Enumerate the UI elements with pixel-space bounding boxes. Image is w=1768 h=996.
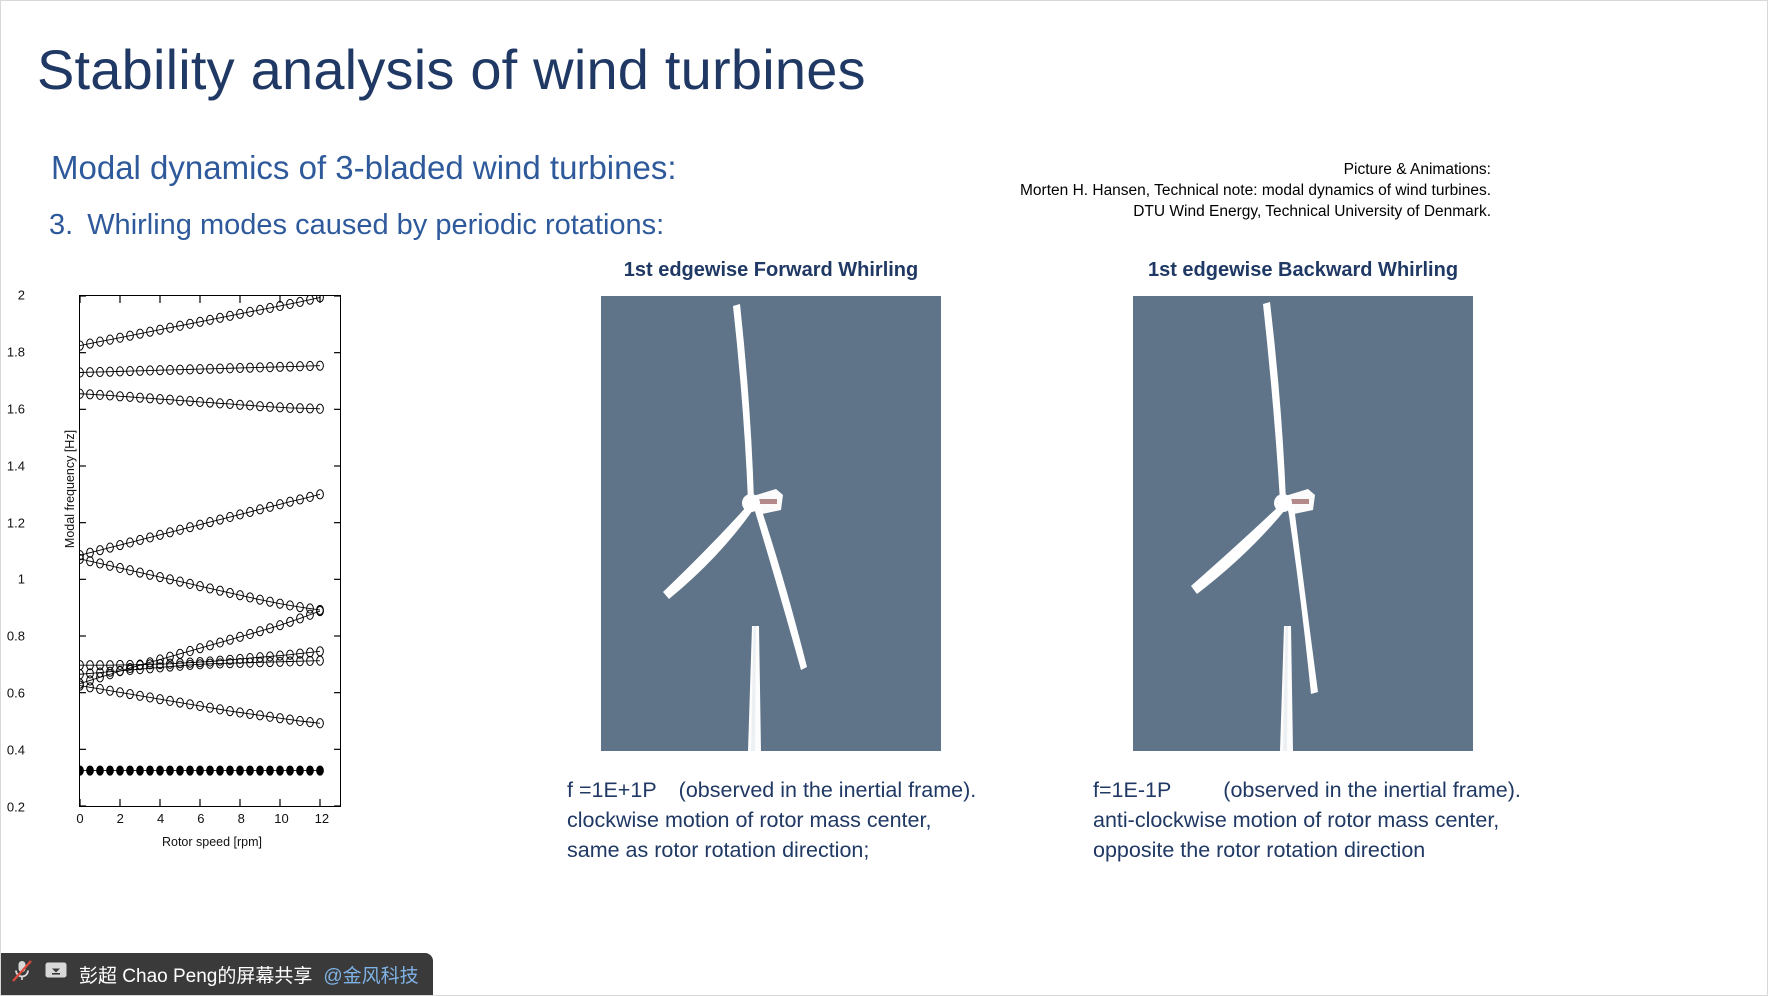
caption-line-3: opposite the rotor rotation direction <box>1093 835 1513 865</box>
chart-plot-area: 024681012 <box>79 295 341 807</box>
screen-share-icon[interactable] <box>44 961 68 987</box>
chart-x-axis-label: Rotor speed [rpm] <box>77 835 347 849</box>
screen-share-org: @金风科技 <box>323 961 418 988</box>
chart-y-tick: 0.4 <box>7 743 25 758</box>
chart-x-tick: 2 <box>117 811 124 826</box>
chart-y-tick: 0.6 <box>7 686 25 701</box>
wind-turbine-illustration <box>601 296 941 751</box>
citation-line-3: DTU Wind Energy, Technical University of… <box>891 201 1491 222</box>
chart-x-tick: 6 <box>197 811 204 826</box>
caption-line-2: clockwise motion of rotor mass center, <box>567 805 981 835</box>
animation-panel-backward-whirling: 1st edgewise Backward Whirling f=1E-1P(o… <box>1093 259 1513 865</box>
screen-share-taskbar[interactable]: 彭超 Chao Peng的屏幕共享 @金风科技 <box>1 953 433 995</box>
bullet-number: 3. <box>49 209 73 241</box>
citation-line-2: Morten H. Hansen, Technical note: modal … <box>891 180 1491 201</box>
animation-heading-backward: 1st edgewise Backward Whirling <box>1093 259 1513 282</box>
animation-heading-forward: 1st edgewise Forward Whirling <box>561 259 981 282</box>
caption-line-1: f=1E-1P(observed in the inertial frame). <box>1093 775 1513 805</box>
chart-y-axis-label: Modal frequency [Hz] <box>63 404 77 574</box>
citation-block: Picture & Animations: Morten H. Hansen, … <box>891 159 1491 222</box>
chart-x-tick: 8 <box>238 811 245 826</box>
chart-y-tick: 1.2 <box>7 515 25 530</box>
chart-y-tick: 1.6 <box>7 401 25 416</box>
turbine-animation-forward[interactable] <box>601 296 941 751</box>
chart-y-tick: 1.8 <box>7 344 25 359</box>
citation-line-1: Picture & Animations: <box>891 159 1491 180</box>
chart-y-tick: 1 <box>18 572 25 587</box>
animation-caption-forward: f =1E+1P(observed in the inertial frame)… <box>567 775 981 865</box>
caption-line-3: same as rotor rotation direction; <box>567 835 981 865</box>
caption-frame-note: (observed in the inertial frame). <box>1223 778 1521 802</box>
bullet-text: Whirling modes caused by periodic rotati… <box>87 209 664 241</box>
turbine-animation-backward[interactable] <box>1133 296 1473 751</box>
chart-x-tick: 4 <box>157 811 164 826</box>
chart-y-tick: 2 <box>18 288 25 303</box>
chart-x-tick: 12 <box>315 811 329 826</box>
chart-y-tick: 0.8 <box>7 629 25 644</box>
slide-bullet: 3.Whirling modes caused by periodic rota… <box>49 209 664 242</box>
caption-frame-note: (observed in the inertial frame). <box>679 778 977 802</box>
wind-turbine-illustration <box>1133 296 1473 751</box>
chart-x-tick: 0 <box>76 811 83 826</box>
modal-frequency-chart: Modal frequency [Hz] Rotor speed [rpm] 0… <box>31 287 361 857</box>
chart-curves <box>80 296 340 806</box>
chart-y-tick: 0.2 <box>7 800 25 815</box>
page-title: Stability analysis of wind turbines <box>37 37 866 102</box>
caption-line-1: f =1E+1P(observed in the inertial frame)… <box>567 775 981 805</box>
animation-panel-forward-whirling: 1st edgewise Forward Whirling f =1E+1P(o… <box>561 259 981 865</box>
screen-share-label: 彭超 Chao Peng的屏幕共享 <box>79 961 312 988</box>
slide-subtitle: Modal dynamics of 3-bladed wind turbines… <box>51 149 677 187</box>
chart-y-tick: 1.4 <box>7 458 25 473</box>
caption-formula: f=1E-1P <box>1093 778 1171 802</box>
caption-formula: f =1E+1P <box>567 778 657 802</box>
animation-caption-backward: f=1E-1P(observed in the inertial frame).… <box>1093 775 1513 865</box>
chart-x-tick: 10 <box>274 811 288 826</box>
microphone-muted-icon[interactable] <box>11 959 33 989</box>
caption-line-2: anti-clockwise motion of rotor mass cent… <box>1093 805 1513 835</box>
